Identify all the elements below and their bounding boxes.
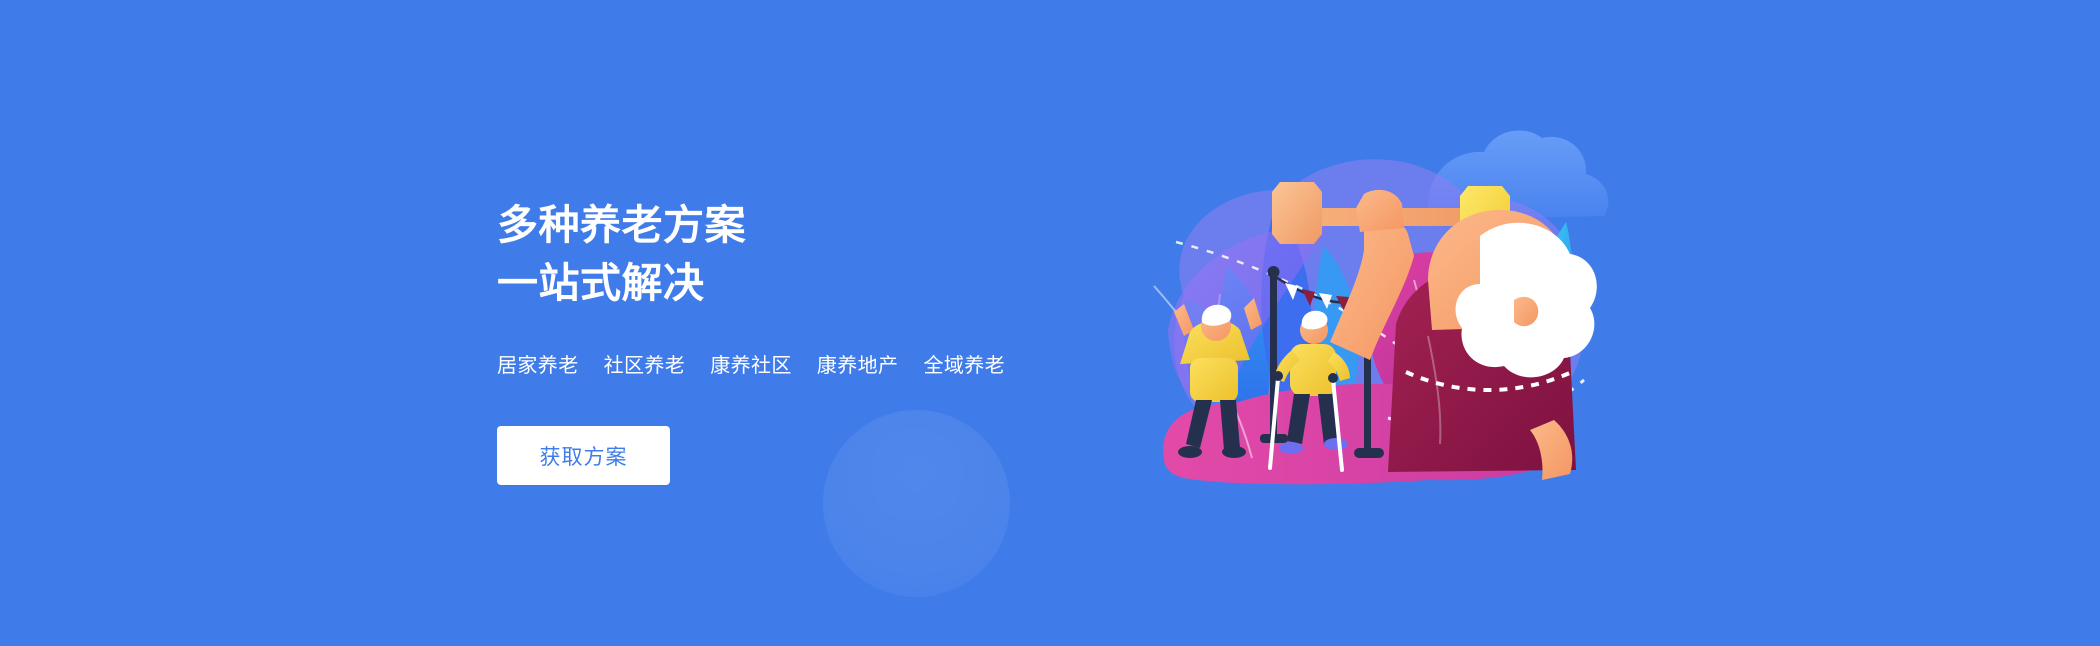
tag-item-wellness-realestate[interactable]: 康养地产: [817, 356, 899, 376]
tag-list: 居家养老 社区养老 康养社区 康养地产 全域养老: [497, 356, 1057, 376]
hero-banner: 多种养老方案 一站式解决 居家养老 社区养老 康养社区 康养地产 全域养老 获取…: [0, 0, 2100, 646]
hero-copy-block: 多种养老方案 一站式解决 居家养老 社区养老 康养社区 康养地产 全域养老 获取…: [497, 196, 1057, 485]
tag-item-wellness-community[interactable]: 康养社区: [710, 356, 792, 376]
elderly-fitness-illustration: [1128, 86, 1628, 526]
tag-item-regional-care[interactable]: 全域养老: [923, 356, 1005, 376]
get-plan-button[interactable]: 获取方案: [497, 426, 670, 485]
tag-item-community-care[interactable]: 社区养老: [604, 356, 686, 376]
page-title: 多种养老方案 一站式解决: [497, 196, 797, 312]
tag-item-home-care[interactable]: 居家养老: [497, 356, 579, 376]
